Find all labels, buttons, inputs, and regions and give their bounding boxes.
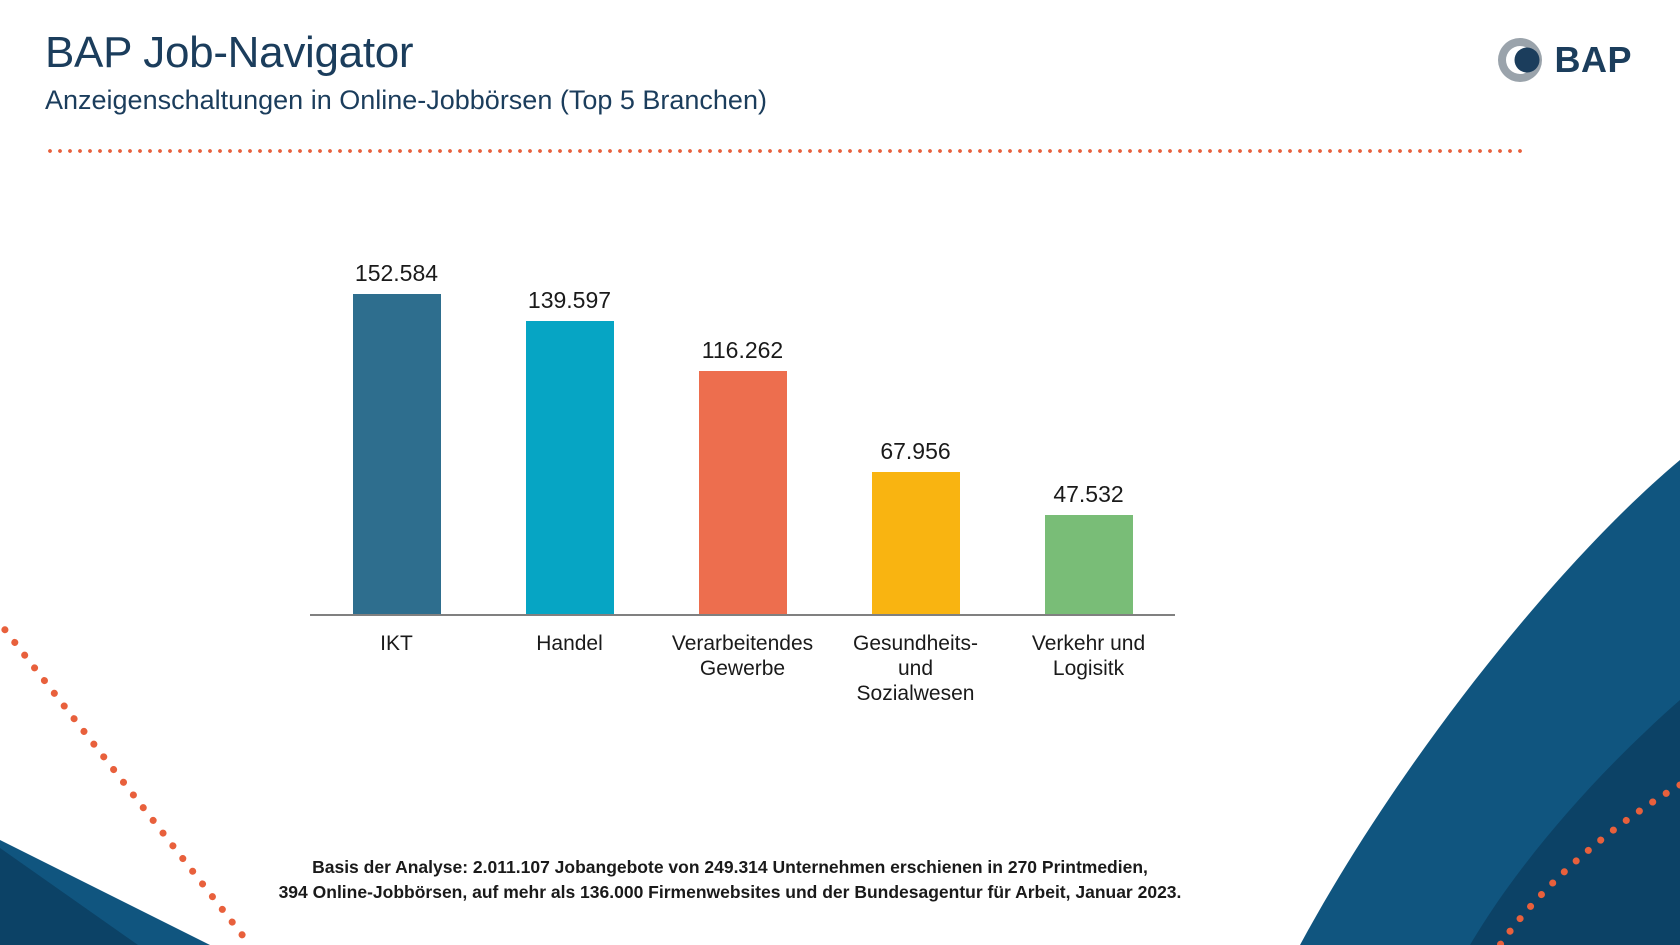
- bar-column: 152.584: [310, 200, 483, 616]
- bar-rect: [1045, 515, 1133, 616]
- chart-source-footnote: Basis der Analyse: 2.011.107 Jobangebote…: [0, 855, 1460, 906]
- bap-logo: BAP: [1496, 36, 1632, 84]
- header-dotted-divider: [45, 148, 1525, 154]
- bar-value-label: 152.584: [355, 262, 438, 285]
- page-title: BAP Job-Navigator: [45, 30, 1635, 76]
- x-tick-label: IKT: [310, 632, 483, 706]
- x-tick-label: Handel: [483, 632, 656, 706]
- page-subtitle: Anzeigenschaltungen in Online-Jobbörsen …: [45, 86, 1635, 116]
- x-tick-label: Verkehr und Logisitk: [1002, 632, 1175, 706]
- bap-logo-text: BAP: [1554, 42, 1632, 78]
- bar-series: 152.584 139.597 116.262 67.956 47.532: [310, 200, 1175, 616]
- bar-value-label: 67.956: [880, 440, 950, 463]
- slide-header: BAP Job-Navigator Anzeigenschaltungen in…: [45, 30, 1635, 116]
- x-axis-tick-labels: IKT Handel Verarbeitendes Gewerbe Gesund…: [310, 632, 1175, 706]
- slide-canvas: BAP Job-Navigator Anzeigenschaltungen in…: [0, 0, 1680, 945]
- bar-rect: [526, 321, 614, 616]
- bar-value-label: 139.597: [528, 289, 611, 312]
- x-tick-label: Verarbeitendes Gewerbe: [656, 632, 829, 706]
- chart-plot-area: 152.584 139.597 116.262 67.956 47.532: [310, 200, 1175, 616]
- bar-column: 116.262: [656, 200, 829, 616]
- bar-rect: [353, 294, 441, 616]
- footnote-line-1: Basis der Analyse: 2.011.107 Jobangebote…: [0, 855, 1460, 880]
- bar-rect: [872, 472, 960, 616]
- bar-column: 47.532: [1002, 200, 1175, 616]
- bap-circle-mark-icon: [1496, 36, 1544, 84]
- x-axis-line: [310, 614, 1175, 616]
- bar-chart: 152.584 139.597 116.262 67.956 47.532: [310, 200, 1175, 720]
- bar-value-label: 116.262: [702, 339, 783, 362]
- bar-value-label: 47.532: [1053, 483, 1123, 506]
- footnote-line-2: 394 Online-Jobbörsen, auf mehr als 136.0…: [0, 880, 1460, 905]
- bar-column: 67.956: [829, 200, 1002, 616]
- x-tick-label: Gesundheits- und Sozialwesen: [829, 632, 1002, 706]
- bar-column: 139.597: [483, 200, 656, 616]
- bar-rect: [699, 371, 787, 616]
